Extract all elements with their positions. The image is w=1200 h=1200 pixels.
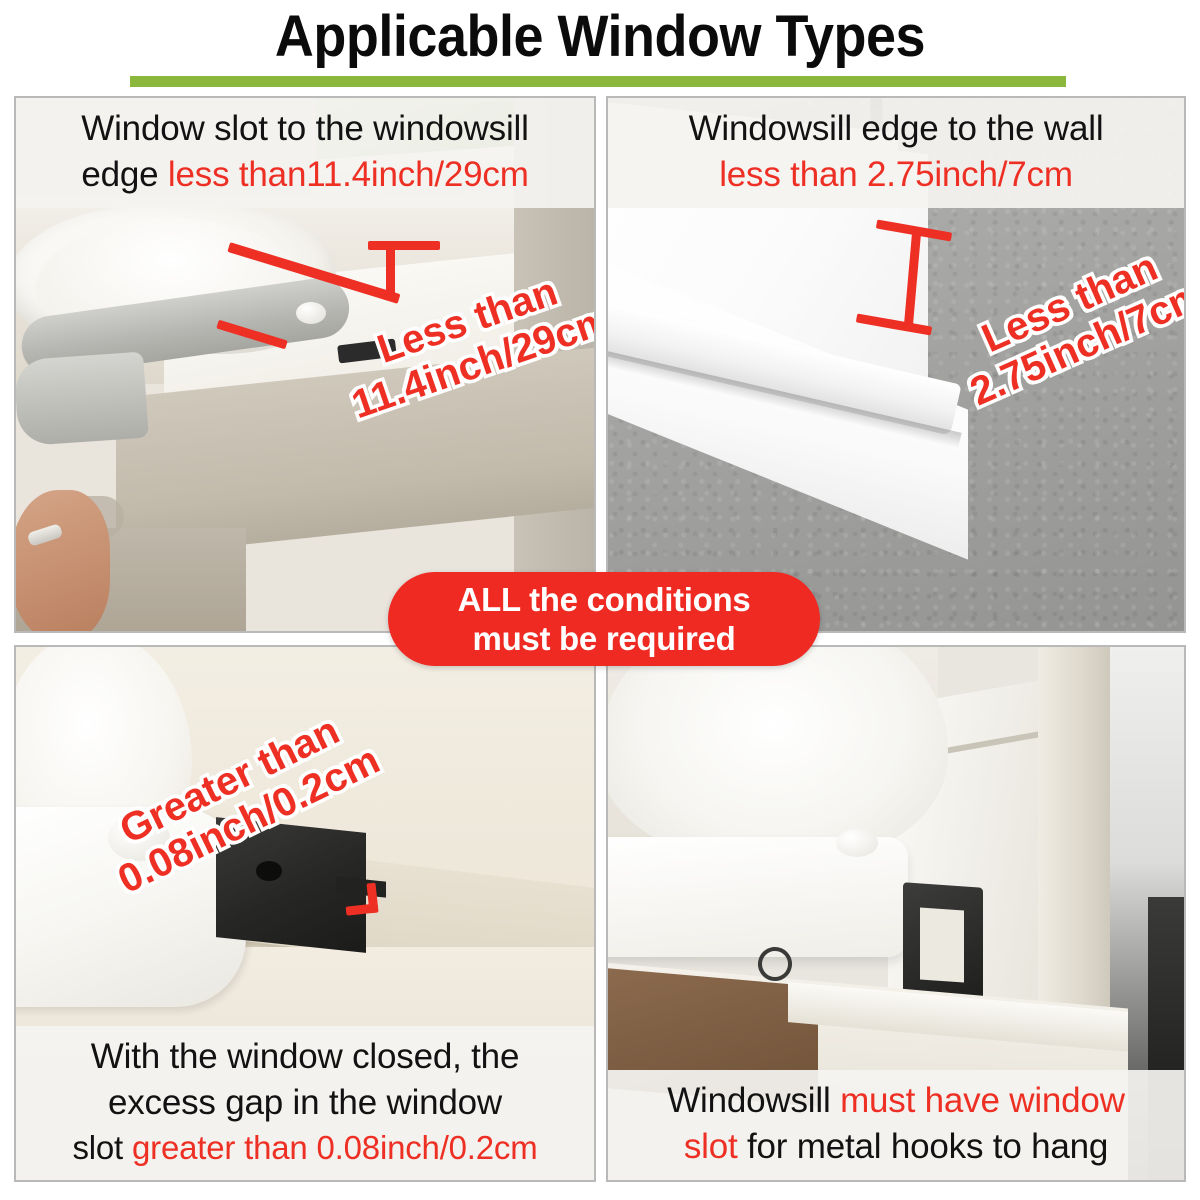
- caption-line-1: Windowsill must have window: [618, 1078, 1174, 1124]
- caption-line-2-black: for metal hooks to hang: [737, 1127, 1108, 1166]
- hook-gap-opening: [920, 907, 964, 982]
- caption-bottom-left: With the window closed, the excess gap i…: [16, 1026, 594, 1180]
- panel-bottom-left: Greater than 0.08inch/0.2cm With the win…: [14, 645, 596, 1182]
- caption-line-2-red: slot: [684, 1127, 738, 1166]
- hammock-white-knob: [296, 302, 326, 324]
- caption-line-1-red: must have window: [840, 1081, 1125, 1120]
- badge-line-2: must be required: [473, 619, 736, 658]
- page-title: Applicable Window Types: [42, 0, 1158, 74]
- hammock-rail-end-cap: [14, 352, 149, 447]
- caption-line-3-black: slot: [72, 1129, 132, 1166]
- badge-line-1: ALL the conditions: [458, 580, 751, 619]
- panel-bottom-right: Windowsill must have window slot for met…: [606, 645, 1186, 1182]
- measure-tick-top: [368, 241, 440, 250]
- panel-top-left: Less than 11.4inch/29cm Window slot to t…: [14, 96, 596, 633]
- caption-line-1-black: Windowsill: [667, 1081, 840, 1120]
- cat-hammock-fur-pad: [606, 645, 948, 867]
- caption-line-2: excess gap in the window: [26, 1080, 584, 1126]
- caption-line-2-red: less than11.4inch/29cm: [168, 155, 529, 194]
- infographic-page: Applicable Window Types: [0, 0, 1200, 1200]
- caption-line-2: edge less than11.4inch/29cm: [26, 152, 584, 198]
- caption-line-2: less than 2.75inch/7cm: [618, 152, 1174, 198]
- hammock-white-knob: [836, 829, 878, 857]
- caption-line-1: With the window closed, the: [26, 1034, 584, 1080]
- caption-top-left: Window slot to the windowsill edge less …: [16, 98, 594, 208]
- caption-top-right: Windowsill edge to the wall less than 2.…: [608, 98, 1184, 208]
- caption-line-3: slot greater than 0.08inch/0.2cm: [26, 1126, 584, 1170]
- caption-line-1: Window slot to the windowsill: [26, 106, 584, 152]
- caption-line-3-red: greater than 0.08inch/0.2cm: [132, 1129, 538, 1166]
- caption-line-2-black: edge: [81, 155, 168, 194]
- hook-screw-hole: [256, 861, 282, 881]
- caption-bottom-right: Windowsill must have window slot for met…: [608, 1070, 1184, 1180]
- panel-top-right: Less than 2.75inch/7cm Windowsill edge t…: [606, 96, 1186, 633]
- caption-line-2: slot for metal hooks to hang: [618, 1124, 1174, 1170]
- title-underline-rule: [130, 76, 1066, 87]
- caption-line-1: Windowsill edge to the wall: [618, 106, 1174, 152]
- all-conditions-badge: ALL the conditions must be required: [388, 572, 820, 666]
- hand: [14, 490, 110, 633]
